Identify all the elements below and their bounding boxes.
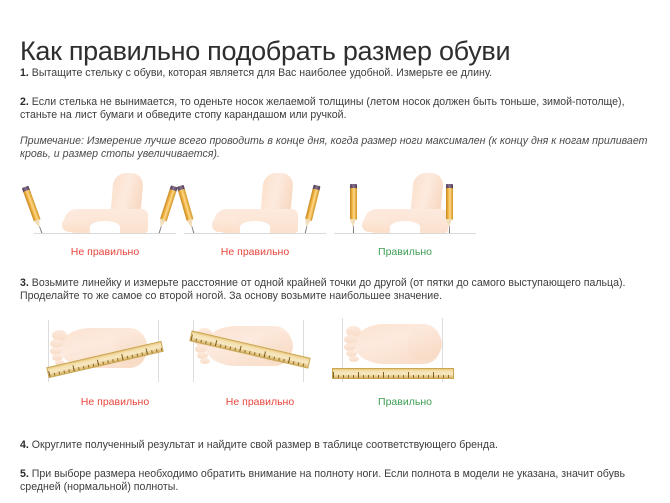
step-4: 4. Округлите полученный результат и найд…	[20, 439, 652, 453]
step-5: 5. При выборе размера необходимо обратит…	[20, 468, 652, 495]
illustration-panel-wrong-4: Не правильно	[185, 312, 335, 408]
illustration-panel-wrong-2: Не правильно	[180, 162, 330, 258]
step-3-number: 3.	[20, 277, 29, 289]
pencil-icon	[23, 189, 45, 233]
illustration-row-2: Не правильно Не правильно	[0, 312, 670, 408]
foot-side-icon	[64, 175, 148, 233]
panel-caption: Не правильно	[185, 396, 335, 408]
panel-caption: Правильно	[330, 246, 480, 258]
pencil-icon	[178, 189, 197, 233]
step-1-text: Вытащите стельку с обуви, которая являет…	[32, 67, 492, 79]
panel-caption: Не правильно	[40, 396, 190, 408]
illustration-panel-correct-2: Правильно	[330, 312, 480, 408]
panel-caption: Правильно	[330, 396, 480, 408]
step-4-text: Округлите полученный результат и найдите…	[32, 439, 498, 451]
panel-caption: Не правильно	[30, 246, 180, 258]
illustration-panel-wrong-3: Не правильно	[40, 312, 190, 408]
measure-guide-line	[303, 320, 304, 382]
step-5-number: 5.	[20, 468, 29, 480]
ruler-icon	[332, 368, 454, 379]
step-2-number: 2.	[20, 96, 29, 108]
page-title: Как правильно подобрать размер обуви	[20, 36, 510, 67]
ground-line	[334, 233, 476, 234]
step-2: 2. Если стелька не вынимается, то оденьт…	[20, 96, 652, 123]
ground-line	[184, 233, 326, 234]
illustration-panel-wrong-1: Не правильно	[30, 162, 180, 258]
illustration-panel-correct-1: Правильно	[330, 162, 480, 258]
footprint-icon	[344, 324, 440, 364]
pencil-icon	[302, 188, 319, 232]
foot-side-icon	[364, 175, 448, 233]
pencil-icon	[446, 188, 453, 232]
step-1-number: 1.	[20, 67, 29, 79]
pencil-icon	[350, 188, 357, 232]
step-3: 3. Возьмите линейку и измерьте расстояни…	[20, 277, 652, 304]
panel-caption: Не правильно	[180, 246, 330, 258]
pencil-icon	[156, 189, 176, 233]
ground-line	[34, 233, 176, 234]
illustration-row-1: Не правильно Не правильно	[0, 162, 670, 258]
foot-side-icon	[214, 175, 298, 233]
note-text: Примечание: Измерение лучше всего провод…	[20, 135, 652, 162]
step-1: 1. Вытащите стельку с обуви, которая явл…	[20, 67, 652, 81]
step-3-text: Возьмите линейку и измерьте расстояние о…	[20, 277, 625, 303]
step-5-text: При выборе размера необходимо обратить в…	[20, 468, 625, 494]
step-2-text: Если стелька не вынимается, то оденьте н…	[20, 96, 625, 122]
step-4-number: 4.	[20, 439, 29, 451]
shoe-size-guide-page: Как правильно подобрать размер обуви 1. …	[0, 0, 670, 503]
measure-guide-line	[193, 320, 194, 382]
